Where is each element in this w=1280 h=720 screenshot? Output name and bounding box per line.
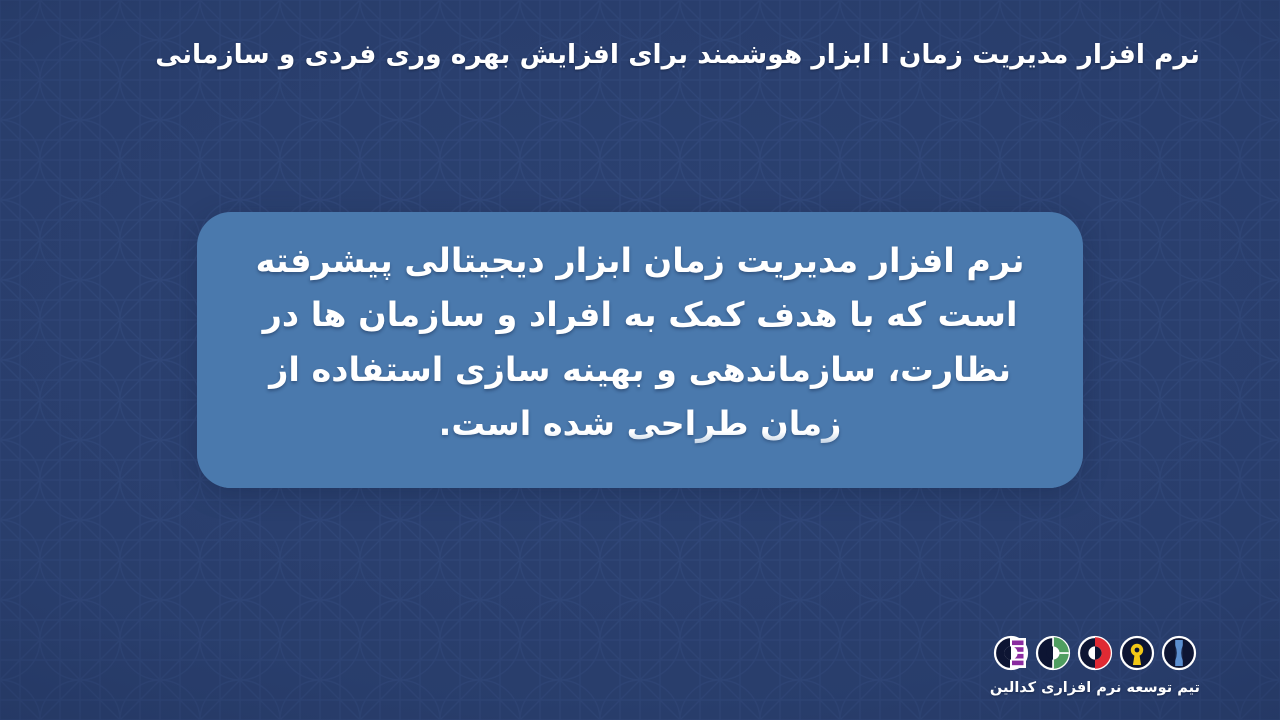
description-text: نرم افزار مدیریت زمان ابزار دیجیتالی پیش… <box>223 234 1057 451</box>
logo-mark-list-icon <box>993 635 1029 671</box>
logo-mark-book-icon <box>1161 635 1197 671</box>
brand-caption: تیم توسعه نرم افزاری کدالین <box>990 680 1200 696</box>
brand-logo <box>993 635 1197 671</box>
logo-mark-key-icon <box>1119 635 1155 671</box>
description-card-inner: نرم افزار مدیریت زمان ابزار دیجیتالی پیش… <box>223 234 1057 451</box>
header-bar: نرم افزار مدیریت زمان ا ابزار هوشمند برا… <box>0 0 1280 110</box>
brand-block: تیم توسعه نرم افزاری کدالین <box>990 635 1200 696</box>
logo-mark-split-icon <box>1077 635 1113 671</box>
page-title: نرم افزار مدیریت زمان ا ابزار هوشمند برا… <box>80 37 1200 74</box>
logo-mark-pie-icon <box>1035 635 1071 671</box>
description-card: نرم افزار مدیریت زمان ابزار دیجیتالی پیش… <box>197 212 1083 488</box>
